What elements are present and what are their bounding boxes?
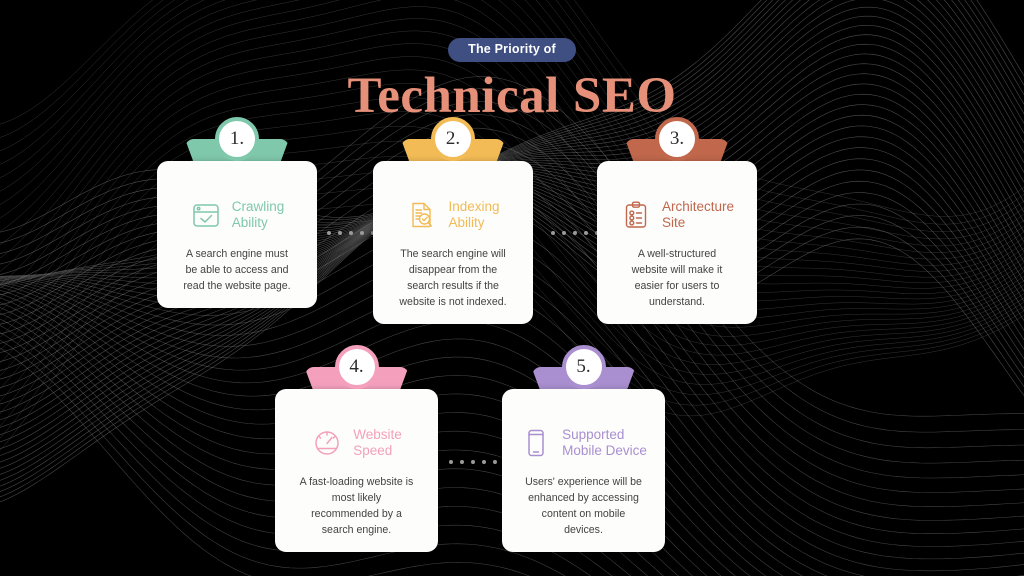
card-title: Crawling Ability: [232, 199, 285, 232]
connector-dot: [482, 460, 486, 464]
card-header: Indexing Ability: [389, 199, 517, 232]
connector-2-3: [551, 231, 599, 235]
mobile-phone-icon: [520, 427, 552, 459]
connector-dot: [562, 231, 566, 235]
card-title: Architecture Site: [662, 199, 734, 232]
card-header: Architecture Site: [613, 199, 741, 232]
browser-check-icon: [190, 199, 222, 231]
card-number: 5.: [576, 356, 590, 378]
card-description: The search engine will disappear from th…: [389, 246, 517, 310]
card-body: Supported Mobile Device Users' experienc…: [502, 389, 665, 552]
connector-dot: [460, 460, 464, 464]
card-body: Architecture Site A well-structured webs…: [597, 161, 757, 324]
clipboard-checklist-icon: [620, 199, 652, 231]
header: The Priority of Technical SEO: [0, 0, 1024, 124]
speedometer-icon: [311, 427, 343, 459]
connector-dot: [584, 231, 588, 235]
card-number-badge: 3.: [655, 117, 699, 161]
document-search-icon: [406, 199, 438, 231]
connector-dot: [551, 231, 555, 235]
connector-dot: [471, 460, 475, 464]
connector-dot: [327, 231, 331, 235]
connector-dot: [338, 231, 342, 235]
card-number: 4.: [349, 356, 363, 378]
card-description: A search engine must be able to access a…: [173, 246, 301, 294]
connector-dot: [449, 460, 453, 464]
connector-dot: [349, 231, 353, 235]
card-number: 3.: [670, 128, 684, 150]
connector-4-5: [449, 460, 497, 464]
connector-dot: [573, 231, 577, 235]
card-title: Indexing Ability: [448, 199, 499, 232]
connector-dot: [360, 231, 364, 235]
card-number-badge: 2.: [431, 117, 475, 161]
card-body: Crawling Ability A search engine must be…: [157, 161, 317, 308]
card-number-badge: 4.: [335, 345, 379, 389]
card-description: A well-structured website will make it e…: [613, 246, 741, 310]
card-number-badge: 1.: [215, 117, 259, 161]
card-header: Website Speed: [291, 427, 422, 460]
connector-dot: [493, 460, 497, 464]
card-number-badge: 5.: [562, 345, 606, 389]
card-header: Supported Mobile Device: [518, 427, 649, 460]
card-description: Users' experience will be enhanced by ac…: [518, 474, 649, 538]
card-body: Website Speed A fast-loading website is …: [275, 389, 438, 552]
card-header: Crawling Ability: [173, 199, 301, 232]
card-body: Indexing Ability The search engine will …: [373, 161, 533, 324]
card-number: 1.: [230, 128, 244, 150]
connector-1-2: [327, 231, 375, 235]
card-title: Supported Mobile Device: [562, 427, 647, 460]
card-description: A fast-loading website is most likely re…: [291, 474, 422, 538]
card-number: 2.: [446, 128, 460, 150]
infographic-canvas: The Priority of Technical SEO 1.: [0, 0, 1024, 576]
priority-badge: The Priority of: [448, 38, 576, 62]
card-title: Website Speed: [353, 427, 402, 460]
page-title: Technical SEO: [0, 68, 1024, 124]
